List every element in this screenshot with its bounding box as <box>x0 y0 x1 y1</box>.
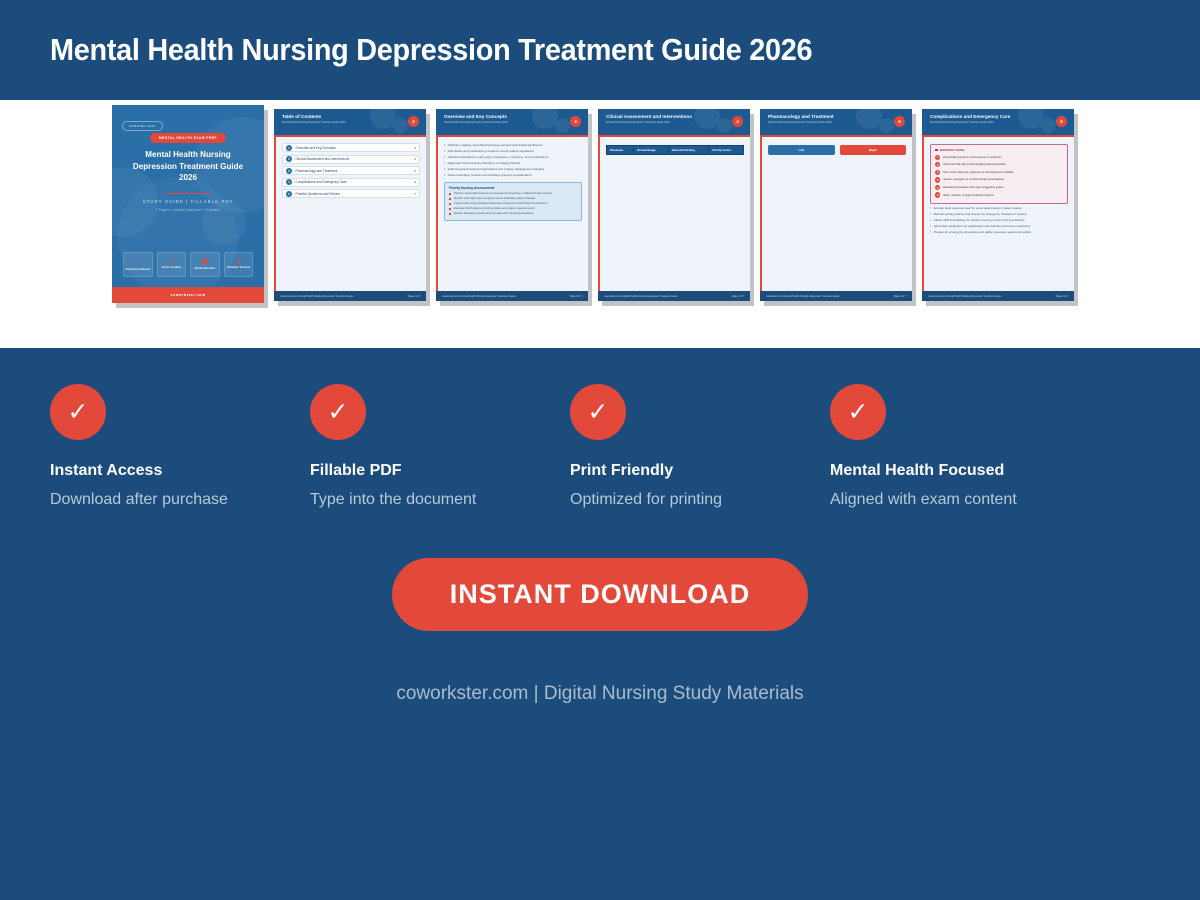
toc-page-number: 4 <box>414 157 416 161</box>
toc-number: 1 <box>286 145 292 151</box>
list-item: •Activate rapid response team for acute … <box>930 207 1068 211</box>
page-body: Parameter Normal Range Abnormal Finding … <box>598 137 750 291</box>
list-item: •Definition, etiology, and pathophysiolo… <box>444 144 582 148</box>
comparison-panels: Left Right <box>768 145 906 155</box>
toc-label: Overview and Key Concepts <box>296 146 415 150</box>
list-item: •Prepare for emergency procedures and ga… <box>930 231 1068 235</box>
bullet-icon: • <box>444 144 445 147</box>
list-item-text: Initiate CPR immediately for cardiac arr… <box>934 219 1025 223</box>
bullet-icon: • <box>930 207 931 210</box>
page-body: Left Right <box>760 137 912 291</box>
assessment-table: Parameter Normal Range Abnormal Finding … <box>606 145 744 155</box>
list-item: 3New onset chest pain, dyspnea, or hemod… <box>935 170 1063 175</box>
cover-feature-item: ✓ Evidence Based <box>123 252 153 277</box>
page-footer: coworkster.com | Mental Health Nursing D… <box>436 291 588 301</box>
square-icon <box>202 259 207 264</box>
cover-feature-row: ✓ Evidence Based Color Coded Quick Revie… <box>123 252 253 277</box>
warning-number: 2 <box>935 162 940 167</box>
list-item-text: Prepare for emergency procedures and gat… <box>934 231 1031 235</box>
bullet-icon: • <box>444 156 445 159</box>
page-body: •Definition, etiology, and pathophysiolo… <box>436 137 588 291</box>
list-item: •Patient education priorities and discha… <box>444 174 582 178</box>
warning-number: 4 <box>935 177 940 182</box>
list-item-text: New onset chest pain, dyspnea, or hemody… <box>943 171 1014 174</box>
feature-title: Instant Access <box>50 462 310 480</box>
page-number-badge: 6 <box>1056 116 1067 127</box>
page-preview-strip: UPDATED 2026 MENTAL HEALTH EXAM PREP Men… <box>0 100 1200 348</box>
table-header-row: Parameter Normal Range Abnormal Finding … <box>607 146 744 155</box>
page-footer-pagenum: Page 2 of 7 <box>408 295 420 298</box>
decorative-circle <box>1041 118 1056 133</box>
toc-item[interactable]: 5 Practice Questions and Review 7 <box>282 189 420 198</box>
page-number-badge: 2 <box>408 116 419 127</box>
toc-page-number: 5 <box>414 169 416 173</box>
thumbnail-page-6[interactable]: Complications and Emergency Care Mental … <box>922 109 1074 301</box>
toc-label: Pharmacology and Treatment <box>296 169 415 173</box>
list-item-text: Maintain airway patency and prepare for … <box>934 213 1027 217</box>
check-icon: ✓ <box>135 259 140 265</box>
list-item: •Risk factors and predisposing condition… <box>444 150 582 154</box>
toc-page-number: 7 <box>414 192 416 196</box>
decorative-circle <box>717 118 732 133</box>
check-icon: ✓ <box>50 384 106 440</box>
list-item: •Clinical manifestations: early signs, p… <box>444 156 582 160</box>
table-column-header: Priority Action <box>709 146 744 155</box>
list-item: Monitor vital signs and recognize trends… <box>449 197 577 200</box>
page-footer-pagenum: Page 5 of 7 <box>894 295 906 298</box>
table-column-header: Normal Range <box>634 146 668 155</box>
feature-title: Fillable PDF <box>310 462 570 480</box>
toc-item[interactable]: 4 Complications and Emergency Care 6 <box>282 178 420 187</box>
decorative-circle <box>393 118 408 133</box>
feature-subtitle: Download after purchase <box>50 491 310 509</box>
list-item: Review laboratory results and correlate … <box>449 212 577 215</box>
toc-label: Complications and Emergency Care <box>296 180 415 184</box>
list-item-text: Abnormal vital sign trends signaling dec… <box>943 163 1006 166</box>
cover-feature-label: Evidence Based <box>126 267 150 271</box>
cover-feature-label: Color Coded <box>162 265 181 269</box>
thumbnail-page-5[interactable]: Pharmacology and Treatment Mental Health… <box>760 109 912 301</box>
page-header-band: Table of Contents Mental Health Nursing … <box>274 109 426 135</box>
list-item: •Administer epinephrine for anaphylaxis … <box>930 225 1068 229</box>
page-footer-brand: coworkster.com | Mental Health Nursing D… <box>928 295 1001 298</box>
list-item-text: Activate rapid response team for acute d… <box>934 207 1021 211</box>
cover-feature-item: Quick Review <box>190 252 220 277</box>
warning-number: 6 <box>935 192 940 197</box>
warning-signs-box: WARNING SIGNS 1Deteriorating level of co… <box>930 144 1068 204</box>
page-footer-brand: coworkster.com | Mental Health Nursing D… <box>766 295 839 298</box>
list-item-text: Perform systematic head-to-toe assessmen… <box>454 192 552 195</box>
page-number-badge: 4 <box>732 116 743 127</box>
dot-icon <box>170 260 173 263</box>
thumbnail-page-3[interactable]: Overview and Key Concepts Mental Health … <box>436 109 588 301</box>
cover-title: Mental Health Nursing Depression Treatme… <box>126 149 250 184</box>
thumbnail-page-2[interactable]: Table of Contents Mental Health Nursing … <box>274 109 426 301</box>
toc-number: 5 <box>286 191 292 197</box>
toc-number: 3 <box>286 168 292 174</box>
panel-header: Left <box>768 145 835 155</box>
list-item-text: Evidence-based treatment approaches and … <box>448 168 545 172</box>
list-item: 6Rash, urticaria, or signs of allergic r… <box>935 192 1063 197</box>
cover-feature-item: Color Coded <box>157 252 187 277</box>
list-item-text: Clinical manifestations: early signs, pr… <box>448 156 548 160</box>
list-item-text: Monitor vital signs and recognize trends… <box>454 197 535 200</box>
list-item: 2Abnormal vital sign trends signaling de… <box>935 162 1063 167</box>
page-header-band: Overview and Key Concepts Mental Health … <box>436 109 588 135</box>
decorative-circle <box>555 118 570 133</box>
page-header-band: Pharmacology and Treatment Mental Health… <box>760 109 912 135</box>
warning-icon <box>935 149 938 152</box>
feature-subtitle: Type into the document <box>310 491 570 509</box>
bullet-icon: • <box>930 213 931 216</box>
page-footer-brand: coworkster.com | Mental Health Nursing D… <box>442 295 515 298</box>
check-icon: ✓ <box>570 384 626 440</box>
list-item-text: Administer epinephrine for anaphylaxis a… <box>934 225 1030 229</box>
bullet-list: •Definition, etiology, and pathophysiolo… <box>444 144 582 178</box>
page-footer: coworkster.com | Mental Health Nursing D… <box>598 291 750 301</box>
bullet-icon: • <box>930 231 931 234</box>
feature-fillable-pdf: ✓ Fillable PDF Type into the document <box>310 384 570 509</box>
toc-page-number: 6 <box>414 180 416 184</box>
updated-badge: UPDATED 2026 <box>122 121 163 131</box>
toc-item[interactable]: 3 Pharmacology and Treatment 5 <box>282 166 420 175</box>
list-item: Perform systematic head-to-toe assessmen… <box>449 192 577 195</box>
bullet-icon: • <box>444 174 445 177</box>
square-bullet-icon <box>449 213 451 215</box>
list-item-text: Severe, emergent, or unrelieved pain pre… <box>943 178 1004 181</box>
page-footer: coworkster.com | Mental Health Nursing D… <box>922 291 1074 301</box>
panel-right: Right <box>840 145 907 155</box>
bullet-icon: • <box>444 150 445 153</box>
square-bullet-icon <box>449 203 451 205</box>
page-title: Mental Health Nursing Depression Treatme… <box>50 32 812 68</box>
cover-footer-brand: coworkster.com <box>112 287 264 303</box>
panel-left: Left <box>768 145 835 155</box>
cover-feature-label: Quick Review <box>194 266 215 270</box>
highlight-title: Priority Nursing Assessments <box>449 186 577 190</box>
page-footer-pagenum: Page 4 of 7 <box>732 295 744 298</box>
feature-subtitle: Optimized for printing <box>570 491 830 509</box>
list-item-text: Definition, etiology, and pathophysiolog… <box>448 144 543 148</box>
panel-header: Right <box>840 145 907 155</box>
check-icon: ✓ <box>830 384 886 440</box>
warning-number: 5 <box>935 185 940 190</box>
feature-instant-access: ✓ Instant Access Download after purchase <box>50 384 310 509</box>
feature-title: Print Friendly <box>570 462 830 480</box>
exam-prep-pill: MENTAL HEALTH EXAM PREP <box>150 133 226 143</box>
list-item-text: Review laboratory results and correlate … <box>454 212 534 215</box>
table-column-header: Abnormal Finding <box>668 146 709 155</box>
toc-number: 4 <box>286 179 292 185</box>
thumbnail-row: UPDATED 2026 MENTAL HEALTH EXAM PREP Men… <box>112 105 1074 303</box>
bullet-icon: • <box>930 225 931 228</box>
site-footnote: coworkster.com | Digital Nursing Study M… <box>0 683 1200 705</box>
list-item-text: Rash, urticaria, or signs of allergic re… <box>943 194 994 197</box>
feature-print-friendly: ✓ Print Friendly Optimized for printing <box>570 384 830 509</box>
square-bullet-icon <box>449 198 451 200</box>
page-body: 1 Overview and Key Concepts 3 2 Clinical… <box>274 137 426 291</box>
feature-mental-health-focused: ✓ Mental Health Focused Aligned with exa… <box>830 384 1090 509</box>
toc-list: 1 Overview and Key Concepts 3 2 Clinical… <box>282 143 420 198</box>
list-item: •Diagnostic criteria and key laboratory … <box>444 162 582 166</box>
page-footer: coworkster.com | Mental Health Nursing D… <box>760 291 912 301</box>
instant-download-button[interactable]: INSTANT DOWNLOAD <box>392 558 808 631</box>
decorative-circle <box>879 118 894 133</box>
cover-feature-label: Student Tested <box>227 265 250 269</box>
page-footer-brand: coworkster.com | Mental Health Nursing D… <box>604 295 677 298</box>
list-item: Evaluate fluid balance including intake … <box>449 207 577 210</box>
list-item-text: Evaluate fluid balance including intake … <box>454 207 535 210</box>
page-header: Mental Health Nursing Depression Treatme… <box>0 0 1200 100</box>
cover-feature-item: Student Tested <box>224 252 254 277</box>
page-header-band: Clinical Assessment and Interventions Me… <box>598 109 750 135</box>
bullet-icon: • <box>444 162 445 165</box>
page-footer: coworkster.com | Mental Health Nursing D… <box>274 291 426 301</box>
cover-divider <box>165 193 211 194</box>
list-item-text: Risk factors and predisposing conditions… <box>448 150 534 154</box>
page-header-band: Complications and Emergency Care Mental … <box>922 109 1074 135</box>
warning-number: 1 <box>935 155 940 160</box>
list-item: •Maintain airway patency and prepare for… <box>930 213 1068 217</box>
feature-subtitle: Aligned with exam content <box>830 491 1090 509</box>
square-bullet-icon <box>449 208 451 210</box>
cover-meta: 7 Pages • Instant Download • Printable <box>112 208 264 212</box>
toc-page-number: 3 <box>414 146 416 150</box>
square-bullet-icon <box>449 193 451 195</box>
list-item-text: Elevated temperature with signs suggesti… <box>943 186 1003 189</box>
list-item: Assess pain using validated scales and i… <box>449 202 577 205</box>
list-item: •Evidence-based treatment approaches and… <box>444 168 582 172</box>
list-item: •Initiate CPR immediately for cardiac ar… <box>930 219 1068 223</box>
list-item: 4Severe, emergent, or unrelieved pain pr… <box>935 177 1063 182</box>
thumbnail-cover-page[interactable]: UPDATED 2026 MENTAL HEALTH EXAM PREP Men… <box>112 105 264 303</box>
emergency-action-list: •Activate rapid response team for acute … <box>930 207 1068 235</box>
feature-title: Mental Health Focused <box>830 462 1090 480</box>
list-item-text: Deteriorating level of consciousness or … <box>943 156 1001 159</box>
page-number-badge: 5 <box>894 116 905 127</box>
list-item: 1Deteriorating level of consciousness or… <box>935 155 1063 160</box>
page-footer-pagenum: Page 3 of 7 <box>570 295 582 298</box>
toc-number: 2 <box>286 156 292 162</box>
list-item-text: Assess pain using validated scales and i… <box>454 202 547 205</box>
bullet-icon: • <box>444 168 445 171</box>
list-item: 5Elevated temperature with signs suggest… <box>935 185 1063 190</box>
dot-icon <box>237 260 240 263</box>
list-item-text: Patient education priorities and dischar… <box>448 174 532 178</box>
warning-title: WARNING SIGNS <box>935 148 1063 152</box>
toc-label: Practice Questions and Review <box>296 192 415 196</box>
table-column-header: Parameter <box>607 146 634 155</box>
priority-assessments-box: Priority Nursing Assessments Perform sys… <box>444 182 582 222</box>
cta-section: INSTANT DOWNLOAD <box>0 558 1200 631</box>
thumbnail-page-4[interactable]: Clinical Assessment and Interventions Me… <box>598 109 750 301</box>
toc-label: Clinical Assessment and Interventions <box>296 157 415 161</box>
page-footer-brand: coworkster.com | Mental Health Nursing D… <box>280 295 353 298</box>
toc-item[interactable]: 2 Clinical Assessment and Interventions … <box>282 155 420 164</box>
cover-subtitle: STUDY GUIDE | FILLABLE PDF <box>112 199 264 204</box>
features-section: ✓ Instant Access Download after purchase… <box>0 348 1200 509</box>
page-number-badge: 3 <box>570 116 581 127</box>
page-footer-pagenum: Page 6 of 7 <box>1056 295 1068 298</box>
list-item-text: Diagnostic criteria and key laboratory o… <box>448 162 521 166</box>
warning-title-text: WARNING SIGNS <box>940 148 965 152</box>
toc-item[interactable]: 1 Overview and Key Concepts 3 <box>282 143 420 152</box>
bullet-icon: • <box>930 219 931 222</box>
page-body: WARNING SIGNS 1Deteriorating level of co… <box>922 137 1074 291</box>
check-icon: ✓ <box>310 384 366 440</box>
warning-number: 3 <box>935 170 940 175</box>
